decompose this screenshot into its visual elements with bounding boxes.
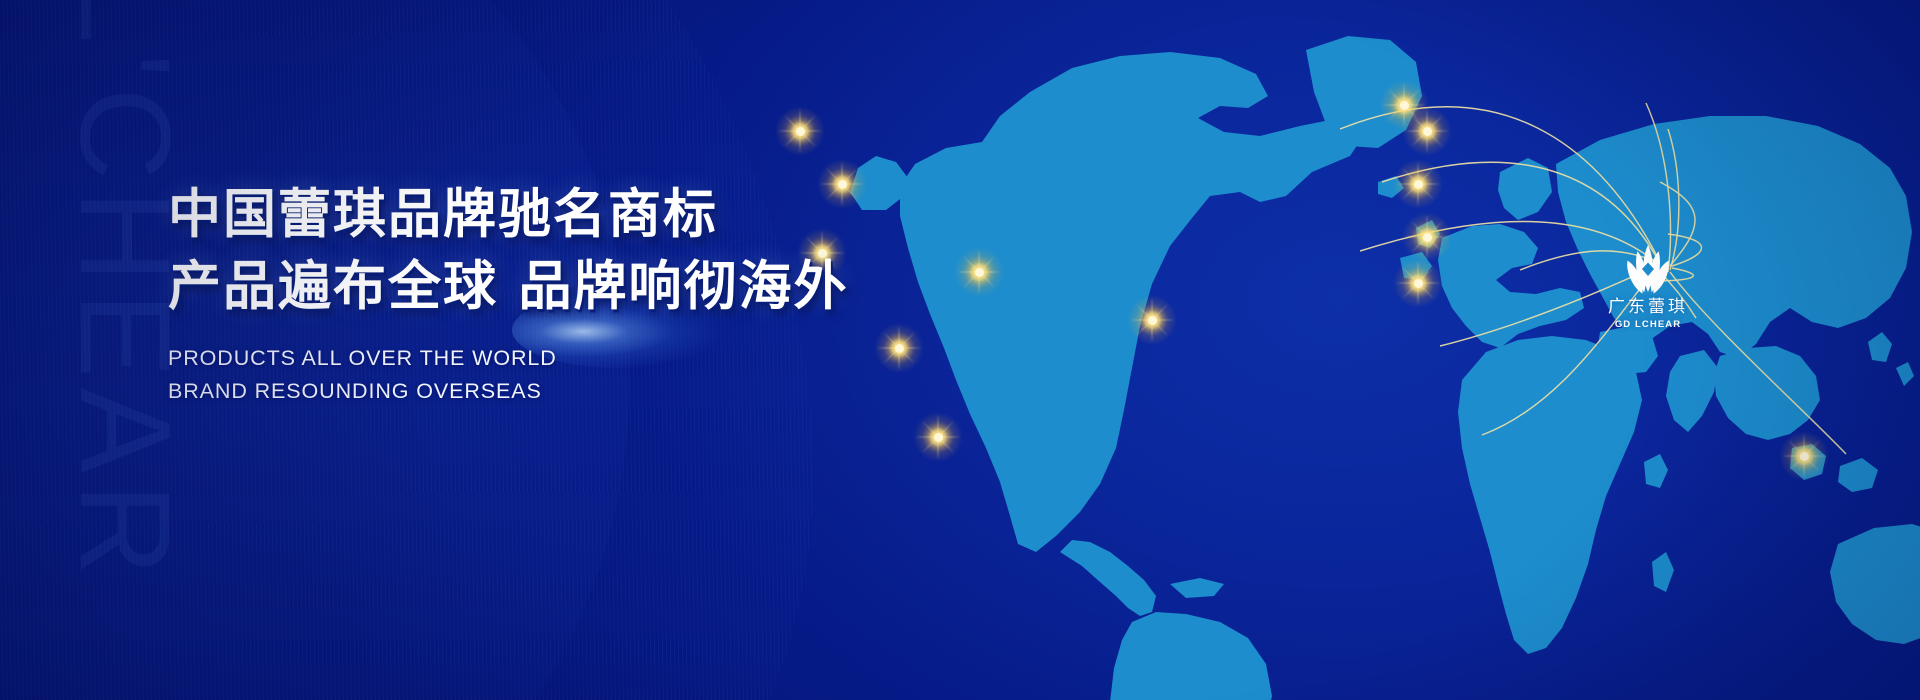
- node-africa: [1126, 294, 1178, 346]
- map-route-lines: [1340, 103, 1846, 454]
- map-landmasses: [850, 36, 1920, 700]
- node-australia: [1778, 430, 1830, 482]
- headline-line-1: 中国蕾琪品牌驰名商标: [168, 184, 888, 247]
- subtitle-line-2: BRAND RESOUNDING OVERSEAS: [168, 375, 888, 408]
- logo-name-cn: 广东蕾琪: [1578, 298, 1718, 317]
- node-south-america: [912, 411, 964, 463]
- headline-block: 中国蕾琪品牌驰名商标 产品遍布全球 品牌响彻海外 PRODUCTS ALL OV…: [168, 184, 888, 407]
- node-north-america-northwest: [774, 105, 826, 157]
- brand-logo: 广东蕾琪 GD LCHEAR: [1578, 243, 1718, 330]
- node-asia-east-1: [1392, 158, 1444, 210]
- subtitle-line-1: PRODUCTS ALL OVER THE WORLD: [168, 342, 888, 375]
- headline-line-2: 产品遍布全球 品牌响彻海外: [168, 256, 888, 319]
- logo-name-en: GD LCHEAR: [1578, 319, 1718, 330]
- node-asia-southeast: [1392, 257, 1444, 309]
- node-asia-northeast-2: [1401, 105, 1453, 157]
- node-asia-northeast-1: [1378, 79, 1430, 131]
- node-atlantic: [953, 246, 1005, 298]
- subtitle-block: PRODUCTS ALL OVER THE WORLD BRAND RESOUN…: [168, 342, 888, 407]
- global-brand-banner: L'CHEAR: [0, 0, 1920, 700]
- node-asia-east-2: [1401, 211, 1453, 263]
- lotus-icon: [1621, 243, 1675, 295]
